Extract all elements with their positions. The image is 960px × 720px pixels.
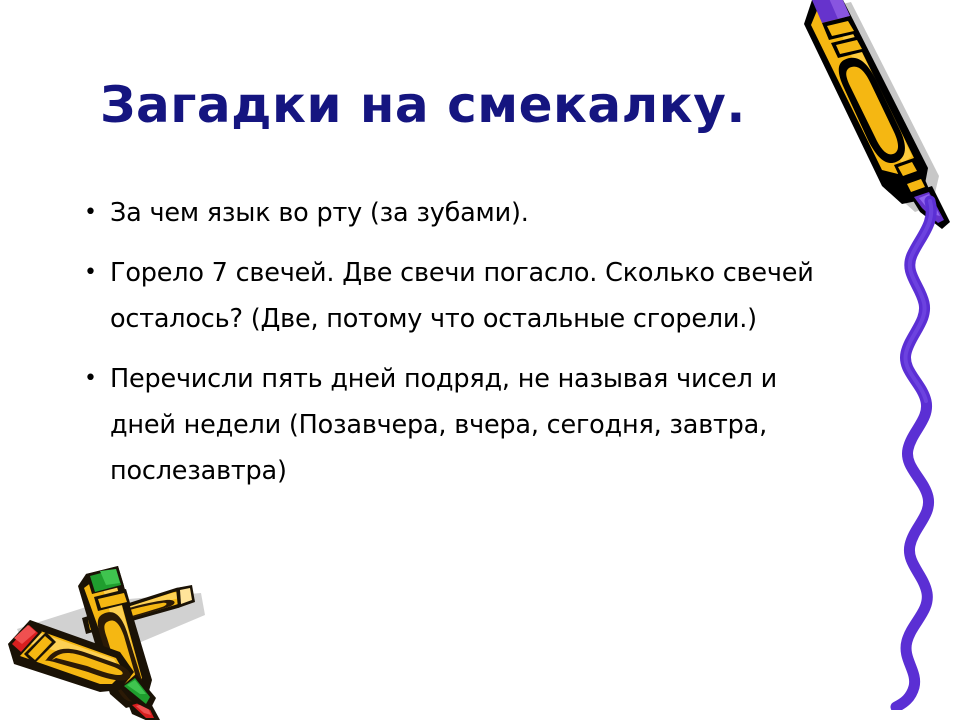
bullet-text: Перечисли пять дней подряд, не называя ч… bbox=[110, 356, 818, 494]
list-item: • Перечисли пять дней подряд, не называя… bbox=[78, 356, 818, 494]
purple-squiggle-line-icon bbox=[860, 195, 960, 710]
bullet-list: • За чем язык во рту (за зубами). • Горе… bbox=[78, 190, 818, 508]
list-item: • Горело 7 свечей. Две свечи погасло. Ск… bbox=[78, 250, 818, 342]
bullet-marker-icon: • bbox=[78, 250, 110, 296]
crayon-trio-icon bbox=[0, 552, 235, 720]
bullet-marker-icon: • bbox=[78, 356, 110, 402]
bullet-text: Горело 7 свечей. Две свечи погасло. Скол… bbox=[110, 250, 818, 342]
list-item: • За чем язык во рту (за зубами). bbox=[78, 190, 818, 236]
presentation-slide: Загадки на смекалку. • За чем язык во рт… bbox=[0, 0, 960, 720]
bullet-text: За чем язык во рту (за зубами). bbox=[110, 190, 818, 236]
slide-title: Загадки на смекалку. bbox=[100, 70, 780, 142]
bullet-marker-icon: • bbox=[78, 190, 110, 236]
